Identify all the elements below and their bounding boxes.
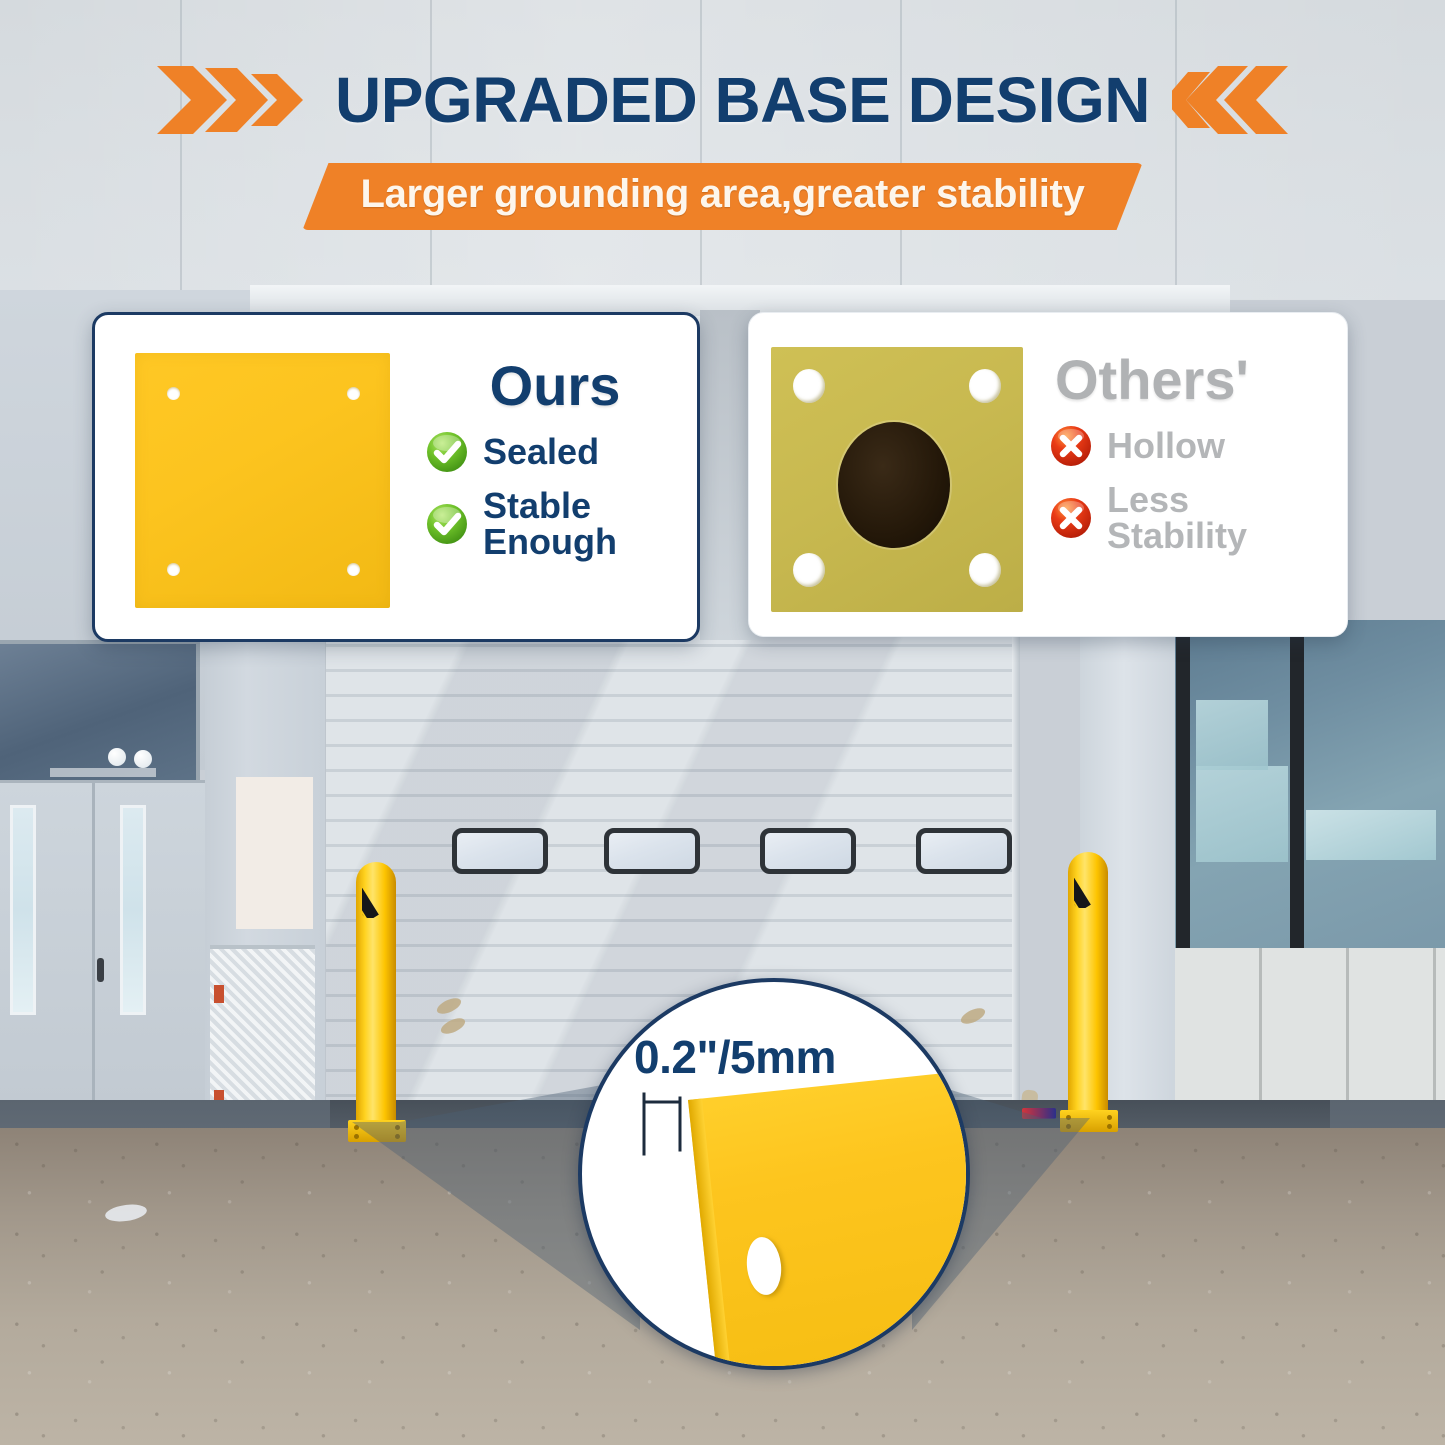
others-content-column: Others' bbox=[1049, 351, 1337, 554]
chevron-right-triple-icon bbox=[153, 62, 313, 138]
subtitle-text: Larger grounding area,greater stability bbox=[360, 172, 1084, 217]
others-heading: Others' bbox=[1049, 351, 1337, 410]
product-marketing-image: UPGRADED BASE DESIGN Larger grounding ar… bbox=[0, 0, 1445, 1445]
door-window bbox=[916, 828, 1012, 874]
feature-row-stable-enough: Stable Enough bbox=[425, 488, 685, 560]
glass-reflection bbox=[1196, 766, 1288, 862]
feature-label-line1: Less bbox=[1107, 479, 1189, 520]
bollard-hazard-stripe bbox=[362, 872, 390, 918]
door-glass-lite bbox=[10, 805, 36, 1015]
feature-row-less-stability: Less Stability bbox=[1049, 482, 1337, 554]
feature-label-sealed: Sealed bbox=[483, 434, 599, 470]
comparison-card-ours: Ours bbox=[92, 312, 700, 642]
concrete-wall-panels bbox=[1175, 948, 1445, 1123]
subtitle-banner: Larger grounding area,greater stability bbox=[302, 163, 1142, 230]
feature-row-sealed: Sealed bbox=[425, 430, 685, 474]
others-feature-list: Hollow Less Stability bbox=[1049, 424, 1337, 554]
door-center-seam bbox=[92, 783, 95, 1113]
door-window bbox=[604, 828, 700, 874]
wall-mesh-panel bbox=[210, 945, 315, 1105]
door-side-rail bbox=[1012, 622, 1020, 1134]
check-circle-icon bbox=[425, 502, 469, 546]
ours-feature-list: Sealed Stable Enough bbox=[425, 430, 685, 560]
wall-sticker bbox=[1022, 1108, 1056, 1119]
wall-white-plate bbox=[236, 777, 313, 929]
magnifier-circle-icon: 0.2"/5mm bbox=[578, 978, 970, 1370]
bolt-hole bbox=[793, 369, 825, 403]
bolt-hole bbox=[793, 553, 825, 587]
bolt-hole bbox=[347, 387, 360, 400]
page-title: UPGRADED BASE DESIGN bbox=[335, 63, 1150, 137]
door-window bbox=[760, 828, 856, 874]
wall-red-marker bbox=[214, 985, 224, 1003]
hollow-center-hole bbox=[838, 422, 950, 548]
bollard-hazard-stripe bbox=[1074, 862, 1102, 908]
thickness-measurement-label: 0.2"/5mm bbox=[634, 1030, 836, 1084]
feature-row-hollow: Hollow bbox=[1049, 424, 1337, 468]
upper-left-window bbox=[0, 640, 200, 785]
door-handle bbox=[97, 958, 104, 982]
feature-label-stable-enough: Stable Enough bbox=[483, 488, 617, 560]
thickness-bracket-icon bbox=[640, 1092, 686, 1163]
glass-reflection bbox=[1196, 700, 1268, 770]
wall-seam bbox=[180, 0, 182, 300]
subtitle-wrap: Larger grounding area,greater stability bbox=[0, 163, 1445, 230]
entry-double-doors bbox=[0, 780, 208, 1110]
check-circle-icon bbox=[425, 430, 469, 474]
door-glass-lite bbox=[120, 805, 146, 1015]
feature-label-line2: Enough bbox=[483, 521, 617, 562]
x-circle-icon bbox=[1049, 496, 1093, 540]
glass-reflection bbox=[1306, 810, 1436, 860]
ours-base-plate-image bbox=[135, 353, 390, 608]
comparison-card-others: Others' bbox=[748, 312, 1348, 637]
feature-label-line2: Stability bbox=[1107, 515, 1247, 556]
window-mullion bbox=[1290, 620, 1304, 950]
bollard-base-plate bbox=[1060, 1110, 1118, 1132]
feature-label-line1: Stable bbox=[483, 485, 591, 526]
bolt-hole bbox=[167, 563, 180, 576]
feature-label-hollow: Hollow bbox=[1107, 428, 1225, 464]
bolt-hole bbox=[969, 553, 1001, 587]
bolt-hole bbox=[167, 387, 180, 400]
wall-seam bbox=[700, 0, 702, 300]
bolt-hole bbox=[347, 563, 360, 576]
ours-heading: Ours bbox=[425, 357, 685, 416]
window-mullion bbox=[1176, 620, 1190, 950]
door-window bbox=[452, 828, 548, 874]
wall-seam bbox=[1175, 0, 1177, 300]
bolt-hole bbox=[969, 369, 1001, 403]
wall-seam bbox=[900, 0, 902, 300]
ours-content-column: Ours bbox=[425, 357, 685, 560]
feature-label-less-stability: Less Stability bbox=[1107, 482, 1247, 554]
title-row: UPGRADED BASE DESIGN bbox=[0, 62, 1445, 138]
base-plate-thickness-closeup bbox=[688, 1066, 970, 1370]
upper-wall-panel bbox=[0, 0, 1445, 300]
others-base-plate-image bbox=[771, 347, 1023, 612]
x-circle-icon bbox=[1049, 424, 1093, 468]
chevron-left-triple-icon bbox=[1172, 62, 1292, 138]
wall-seam bbox=[430, 0, 432, 300]
bollard-base-plate bbox=[348, 1120, 406, 1142]
